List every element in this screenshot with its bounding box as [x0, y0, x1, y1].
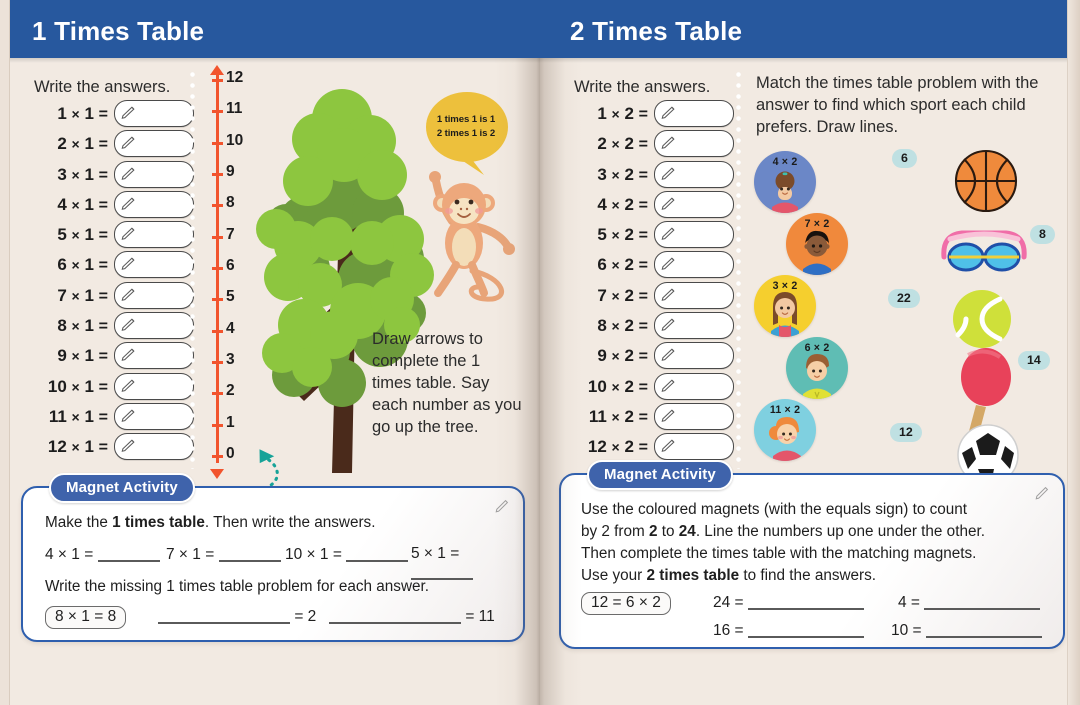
factor-a: 6 — [57, 255, 66, 274]
equals-sign: = — [99, 257, 108, 274]
equals-sign: = — [99, 439, 108, 456]
number-line-label: 7 — [226, 226, 235, 244]
factor-b: 2 — [624, 195, 633, 214]
equation-label: 4 × 2 = — [570, 195, 648, 215]
factor-a: 1 — [597, 104, 606, 123]
equation-label: 6 × 2 = — [570, 255, 648, 275]
equation-label: 6 × 1 = — [30, 255, 108, 275]
factor-b: 1 — [84, 104, 93, 123]
kid-problem-label: 11 × 2 — [754, 404, 816, 416]
multiply-sign: × — [72, 227, 80, 243]
right-magnet-problem-4-label: 10 = — [891, 622, 922, 639]
multiply-sign: × — [612, 348, 620, 364]
match-instruction-text: Match the times table problem with the a… — [756, 73, 1056, 139]
multiply-sign: × — [72, 288, 80, 304]
sport-answer-badge-22[interactable]: 22 — [888, 289, 920, 308]
pencil-icon — [120, 135, 136, 151]
multiply-sign: × — [72, 379, 80, 395]
basketball-icon — [950, 145, 1022, 217]
equals-sign: = — [639, 257, 648, 274]
number-line-arrow-up — [210, 65, 224, 75]
number-line-tick — [212, 173, 223, 176]
left-page-edge — [0, 0, 10, 705]
factor-b: 2 — [624, 225, 633, 244]
right-magnet-paragraph: Use the coloured magnets (with the equal… — [581, 499, 1051, 587]
left-dotted-divider — [190, 69, 195, 469]
left-magnet-line-1: Make the 1 times table. Then write the a… — [45, 512, 505, 534]
multiply-sign: × — [72, 106, 80, 122]
pencil-icon — [660, 347, 676, 363]
equals-sign: = — [99, 379, 108, 396]
left-magnet-answer-1: = 2 — [158, 607, 316, 626]
number-line-label: 10 — [226, 132, 243, 150]
number-line-label: 1 — [226, 414, 235, 432]
pencil-icon — [660, 226, 676, 242]
factor-a: 9 — [597, 346, 606, 365]
factor-a: 2 — [57, 134, 66, 153]
pencil-icon — [120, 196, 136, 212]
right-page-content: Write the answers. 1 × 2 =2 × 2 =3 × 2 =… — [540, 63, 1080, 705]
factor-b: 1 — [84, 134, 93, 153]
speech-line-2: 2 times 1 is 2 — [437, 128, 495, 139]
pencil-icon — [660, 105, 676, 121]
number-line-tick — [212, 267, 223, 270]
answer-input-right-3[interactable] — [654, 161, 734, 188]
factor-b: 1 — [84, 255, 93, 274]
answer-input-right-1[interactable] — [654, 100, 734, 127]
pencil-icon — [660, 166, 676, 182]
multiply-sign: × — [612, 257, 620, 273]
left-magnet-l1-pre: Make the — [45, 514, 112, 531]
factor-b: 2 — [624, 255, 633, 274]
answer-input-left-4[interactable] — [114, 191, 194, 218]
right-page-edge — [1067, 0, 1080, 705]
multiply-sign: × — [612, 106, 620, 122]
right-magnet-problem-3-label: 16 = — [713, 622, 744, 639]
answer-input-right-2[interactable] — [654, 130, 734, 157]
right-magnet-l2c: to — [658, 523, 679, 540]
right-magnet-problem-4: 10 = — [891, 621, 1042, 640]
factor-a: 2 — [597, 134, 606, 153]
kid-problem-label: 4 × 2 — [754, 156, 816, 168]
equation-label: 8 × 1 = — [30, 316, 108, 336]
multiply-sign: × — [72, 409, 80, 425]
answer-input-right-4[interactable] — [654, 191, 734, 218]
right-page: 2 Times Table Write the answers. 1 × 2 =… — [540, 0, 1080, 705]
number-line-label: 2 — [226, 382, 235, 400]
pencil-icon — [660, 438, 676, 454]
factor-a: 9 — [57, 346, 66, 365]
multiply-sign: × — [612, 136, 620, 152]
factor-a: 4 — [597, 195, 606, 214]
right-magnet-activity-box: Magnet Activity Use the coloured magnets… — [559, 473, 1065, 649]
answer-blank[interactable] — [926, 621, 1042, 638]
left-magnet-answer-2: = 11 — [329, 607, 495, 626]
swimming-goggles-icon — [936, 223, 1032, 279]
multiply-sign: × — [72, 197, 80, 213]
pencil-icon — [660, 378, 676, 394]
equation-label: 9 × 1 = — [30, 346, 108, 366]
left-magnet-problem-1: 4 × 1 = — [45, 545, 160, 564]
factor-b: 2 — [624, 407, 633, 426]
equation-label: 10 × 2 = — [570, 377, 648, 397]
number-line-arrow-down — [210, 469, 224, 479]
answer-blank[interactable] — [346, 545, 408, 562]
factor-a: 4 — [57, 195, 66, 214]
equals-sign: = — [99, 227, 108, 244]
number-line-tick — [212, 142, 223, 145]
pencil-icon — [120, 166, 136, 182]
answer-input-left-1[interactable] — [114, 100, 194, 127]
right-dotted-divider — [736, 69, 741, 469]
multiply-sign: × — [612, 409, 620, 425]
left-page-content: Write the answers. 1 × 1 =2 × 1 =3 × 1 =… — [0, 63, 540, 705]
factor-b: 1 — [84, 286, 93, 305]
left-magnet-line-2: Write the missing 1 times table problem … — [45, 576, 515, 598]
answer-blank[interactable] — [219, 545, 281, 562]
number-line-tick — [212, 79, 223, 82]
sport-item-swimming-goggles[interactable] — [936, 223, 1032, 284]
answer-input-left-12[interactable] — [114, 433, 194, 460]
monkey-speech-bubble: 1 times 1 is 1 2 times 1 is 2 — [424, 91, 508, 165]
answer-input-left-7[interactable] — [114, 282, 194, 309]
left-page-title: 1 Times Table — [32, 16, 204, 47]
right-header-shadow — [540, 58, 1080, 63]
answer-input-left-3[interactable] — [114, 161, 194, 188]
equation-label: 2 × 2 = — [570, 134, 648, 154]
right-magnet-l2a: by 2 from — [581, 523, 649, 540]
answer-input-left-11[interactable] — [114, 403, 194, 430]
kid-circle-5[interactable]: 11 × 2 — [754, 399, 816, 461]
equation-label: 3 × 1 = — [30, 165, 108, 185]
factor-a: 7 — [57, 286, 66, 305]
answer-input-right-11[interactable] — [654, 403, 734, 430]
answer-input-right-9[interactable] — [654, 342, 734, 369]
right-page-title: 2 Times Table — [570, 16, 742, 47]
left-magnet-problem-4-label: 5 × 1 = — [411, 545, 459, 562]
sport-answer-badge-14[interactable]: 14 — [1018, 351, 1050, 370]
left-magnet-l1-post: . Then write the answers. — [205, 514, 376, 531]
multiply-sign: × — [72, 136, 80, 152]
factor-b: 1 — [84, 195, 93, 214]
number-line-label: 3 — [226, 351, 235, 369]
factor-b: 1 — [84, 316, 93, 335]
number-line-label: 4 — [226, 320, 235, 338]
pencil-icon — [660, 196, 676, 212]
multiply-sign: × — [612, 288, 620, 304]
number-line-label: 6 — [226, 257, 235, 275]
answer-blank[interactable] — [329, 607, 461, 624]
number-line-tick — [212, 204, 223, 207]
equals-sign: = — [99, 197, 108, 214]
pencil-icon — [120, 438, 136, 454]
answer-input-right-5[interactable] — [654, 221, 734, 248]
left-header-shadow — [0, 58, 540, 63]
answer-input-right-10[interactable] — [654, 373, 734, 400]
right-magnet-l2e: . Line the numbers up one under the othe… — [696, 523, 985, 540]
factor-b: 1 — [84, 225, 93, 244]
factor-a: 5 — [57, 225, 66, 244]
equation-label: 1 × 1 = — [30, 104, 108, 124]
equals-sign: = — [99, 288, 108, 305]
multiply-sign: × — [72, 439, 80, 455]
pencil-icon — [660, 135, 676, 151]
factor-a: 12 — [588, 437, 607, 456]
equation-label: 12 × 1 = — [30, 437, 108, 457]
answer-input-left-5[interactable] — [114, 221, 194, 248]
pencil-icon — [120, 347, 136, 363]
number-line-tick — [212, 392, 223, 395]
equals-sign: = — [99, 167, 108, 184]
multiply-sign: × — [72, 257, 80, 273]
equals-sign: = — [639, 106, 648, 123]
right-magnet-problem-2: 4 = — [898, 593, 1040, 612]
equals-sign: = — [99, 106, 108, 123]
factor-b: 1 — [84, 346, 93, 365]
left-magnet-problem-2-label: 7 × 1 = — [166, 546, 214, 563]
multiply-sign: × — [612, 318, 620, 334]
equation-label: 8 × 2 = — [570, 316, 648, 336]
factor-b: 2 — [624, 377, 633, 396]
factor-a: 1 — [57, 104, 66, 123]
right-magnet-l3: Then complete the times table with the m… — [581, 545, 976, 562]
pencil-icon — [660, 256, 676, 272]
right-write-answers-prompt: Write the answers. — [574, 77, 710, 98]
factor-a: 11 — [589, 407, 607, 426]
factor-a: 3 — [57, 165, 66, 184]
number-line-label: 9 — [226, 163, 235, 181]
equation-label: 7 × 1 = — [30, 286, 108, 306]
number-line-label: 5 — [226, 288, 235, 306]
equation-label: 11 × 1 = — [30, 407, 108, 427]
factor-a: 11 — [49, 407, 67, 426]
kid-problem-label: 6 × 2 — [786, 342, 848, 354]
number-line-label: 11 — [226, 100, 242, 118]
pencil-icon — [660, 317, 676, 333]
answer-input-right-8[interactable] — [654, 312, 734, 339]
equation-label: 7 × 2 = — [570, 286, 648, 306]
number-line-tick — [212, 330, 223, 333]
factor-a: 10 — [48, 377, 67, 396]
right-magnet-problem-1-label: 24 = — [713, 594, 744, 611]
multiply-sign: × — [612, 379, 620, 395]
pencil-icon — [660, 287, 676, 303]
answer-input-left-10[interactable] — [114, 373, 194, 400]
multiply-sign: × — [612, 167, 620, 183]
equals-sign: = — [639, 379, 648, 396]
factor-a: 7 — [597, 286, 606, 305]
kid-problem-label: 3 × 2 — [754, 280, 816, 292]
speech-line-1: 1 times 1 is 1 — [437, 114, 495, 125]
pencil-icon — [120, 317, 136, 333]
factor-b: 1 — [84, 407, 93, 426]
left-magnet-answer-1-label: = 2 — [294, 608, 316, 625]
number-line-label: 12 — [226, 69, 243, 87]
pencil-icon — [120, 256, 136, 272]
answer-input-left-9[interactable] — [114, 342, 194, 369]
factor-a: 12 — [48, 437, 67, 456]
answer-blank[interactable] — [748, 593, 864, 610]
number-line-tick — [212, 455, 223, 458]
factor-a: 6 — [597, 255, 606, 274]
answer-input-right-12[interactable] — [654, 433, 734, 460]
equals-sign: = — [639, 439, 648, 456]
equation-label: 12 × 2 = — [570, 437, 648, 457]
left-magnet-activity-tab: Magnet Activity — [49, 473, 195, 503]
right-page-header: 2 Times Table — [540, 0, 1080, 58]
answer-input-left-6[interactable] — [114, 251, 194, 278]
answer-input-left-2[interactable] — [114, 130, 194, 157]
multiply-sign: × — [612, 197, 620, 213]
multiply-sign: × — [72, 318, 80, 334]
pencil-icon — [120, 378, 136, 394]
left-write-answers-prompt: Write the answers. — [34, 77, 170, 98]
right-magnet-l2d: 24 — [679, 523, 696, 540]
kid-circle-4[interactable]: 6 × 2 — [786, 337, 848, 399]
factor-b: 2 — [624, 437, 633, 456]
pencil-icon — [120, 287, 136, 303]
number-line-label: 8 — [226, 194, 235, 212]
right-magnet-problem-2-label: 4 = — [898, 594, 920, 611]
equation-label: 5 × 1 = — [30, 225, 108, 245]
multiply-sign: × — [612, 227, 620, 243]
answer-blank[interactable] — [158, 607, 290, 624]
equation-label: 2 × 1 = — [30, 134, 108, 154]
factor-b: 1 — [84, 165, 93, 184]
factor-b: 2 — [624, 165, 633, 184]
equation-label: 11 × 2 = — [570, 407, 648, 427]
pencil-icon — [120, 408, 136, 424]
sport-answer-badge-8[interactable]: 8 — [1030, 225, 1055, 244]
sport-item-basketball[interactable] — [950, 145, 1022, 222]
factor-a: 8 — [597, 316, 606, 335]
factor-b: 1 — [84, 377, 93, 396]
kid-circle-2[interactable]: 7 × 2 — [786, 213, 848, 275]
right-magnet-example-chip: 12 = 6 × 2 — [581, 592, 671, 615]
book-spread: 1 Times Table Write the answers. 1 × 1 =… — [0, 0, 1080, 705]
factor-a: 8 — [57, 316, 66, 335]
equals-sign: = — [99, 136, 108, 153]
multiply-sign: × — [72, 348, 80, 364]
equals-sign: = — [639, 227, 648, 244]
right-magnet-l1: Use the coloured magnets (with the equal… — [581, 501, 967, 518]
factor-b: 2 — [624, 104, 633, 123]
number-line-label: 0 — [226, 445, 235, 463]
answer-blank[interactable] — [98, 545, 160, 562]
answer-blank[interactable] — [924, 593, 1040, 610]
left-magnet-problem-2: 7 × 1 = — [166, 545, 281, 564]
kid-problem-label: 7 × 2 — [786, 218, 848, 230]
right-magnet-l4a: Use your — [581, 567, 646, 584]
equals-sign: = — [639, 348, 648, 365]
sport-answer-badge-6[interactable]: 6 — [892, 149, 917, 168]
number-line-tick — [212, 424, 223, 427]
factor-b: 2 — [624, 346, 633, 365]
left-magnet-activity-box: Magnet Activity Make the 1 times table. … — [21, 486, 525, 642]
left-page-header: 1 Times Table — [0, 0, 540, 58]
equals-sign: = — [639, 288, 648, 305]
factor-a: 3 — [597, 165, 606, 184]
pencil-icon — [120, 226, 136, 242]
factor-b: 2 — [624, 316, 633, 335]
factor-a: 5 — [597, 225, 606, 244]
number-line-tick — [212, 298, 223, 301]
equation-label: 9 × 2 = — [570, 346, 648, 366]
multiply-sign: × — [72, 167, 80, 183]
equals-sign: = — [639, 318, 648, 335]
kid-circle-3[interactable]: 3 × 2 — [754, 275, 816, 337]
right-magnet-problem-1: 24 = — [713, 593, 864, 612]
equals-sign: = — [99, 348, 108, 365]
pencil-icon — [660, 408, 676, 424]
left-magnet-l1-bold: 1 times table — [112, 514, 205, 531]
answer-input-right-6[interactable] — [654, 251, 734, 278]
equals-sign: = — [99, 409, 108, 426]
factor-b: 1 — [84, 437, 93, 456]
right-magnet-l4c: to find the answers. — [739, 567, 876, 584]
equals-sign: = — [99, 318, 108, 335]
equals-sign: = — [639, 409, 648, 426]
left-magnet-problem-3: 10 × 1 = — [285, 545, 408, 564]
pencil-icon — [494, 499, 509, 514]
right-magnet-problem-3: 16 = — [713, 621, 864, 640]
equation-label: 4 × 1 = — [30, 195, 108, 215]
right-magnet-l2b: 2 — [649, 523, 658, 540]
equals-sign: = — [639, 167, 648, 184]
number-line-tick — [212, 236, 223, 239]
answer-input-right-7[interactable] — [654, 282, 734, 309]
right-magnet-activity-tab: Magnet Activity — [587, 460, 733, 490]
speech-bubble-text: 1 times 1 is 1 2 times 1 is 2 — [424, 113, 508, 140]
right-magnet-l4b: 2 times table — [646, 567, 739, 584]
left-magnet-answer-2-label: = 11 — [465, 608, 494, 625]
equation-label: 1 × 2 = — [570, 104, 648, 124]
left-magnet-problem-3-label: 10 × 1 = — [285, 546, 342, 563]
sport-answer-badge-12[interactable]: 12 — [890, 423, 922, 442]
number-line-tick — [212, 361, 223, 364]
factor-b: 2 — [624, 134, 633, 153]
multiply-sign: × — [612, 439, 620, 455]
equation-label: 10 × 1 = — [30, 377, 108, 397]
kid-circle-1[interactable]: 4 × 2 — [754, 151, 816, 213]
number-line-tick — [212, 110, 223, 113]
left-page: 1 Times Table Write the answers. 1 × 1 =… — [0, 0, 540, 705]
monkey-illustration — [408, 159, 520, 310]
answer-blank[interactable] — [748, 621, 864, 638]
answer-input-left-8[interactable] — [114, 312, 194, 339]
equals-sign: = — [639, 197, 648, 214]
pencil-icon — [120, 105, 136, 121]
tree-instruction-text: Draw arrows to complete the 1 times tabl… — [372, 329, 522, 439]
equals-sign: = — [639, 136, 648, 153]
left-magnet-example-chip: 8 × 1 = 8 — [45, 606, 126, 629]
left-magnet-problem-1-label: 4 × 1 = — [45, 546, 93, 563]
factor-b: 2 — [624, 286, 633, 305]
equation-label: 5 × 2 = — [570, 225, 648, 245]
factor-a: 10 — [588, 377, 607, 396]
equation-label: 3 × 2 = — [570, 165, 648, 185]
